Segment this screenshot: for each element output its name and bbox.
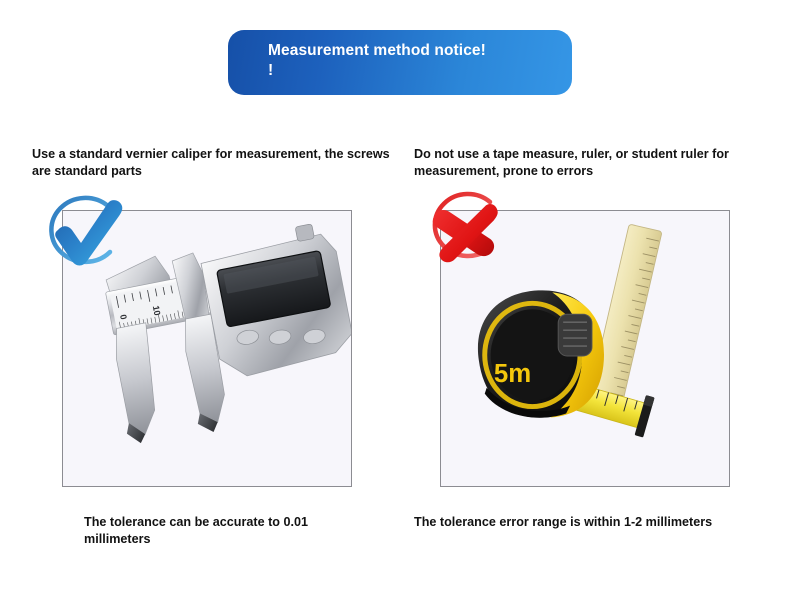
caliper-photo: 0 10 20 bbox=[62, 210, 352, 487]
correct-bottom-caption: The tolerance can be accurate to 0.01 mi… bbox=[84, 514, 374, 548]
incorrect-top-caption: Do not use a tape measure, ruler, or stu… bbox=[414, 146, 764, 180]
tape-measure-photo: 5m bbox=[440, 210, 730, 487]
tape-length-label: 5m bbox=[494, 360, 531, 388]
correct-top-caption: Use a standard vernier caliper for measu… bbox=[32, 146, 404, 180]
slide-root: Measurement method notice! ! Use a stand… bbox=[0, 0, 800, 590]
incorrect-bottom-caption: The tolerance error range is within 1-2 … bbox=[414, 514, 764, 531]
title-banner: Measurement method notice! ! bbox=[228, 30, 572, 95]
caliper-scale-10: 10 bbox=[151, 305, 163, 317]
banner-title: Measurement method notice! ! bbox=[268, 41, 558, 81]
